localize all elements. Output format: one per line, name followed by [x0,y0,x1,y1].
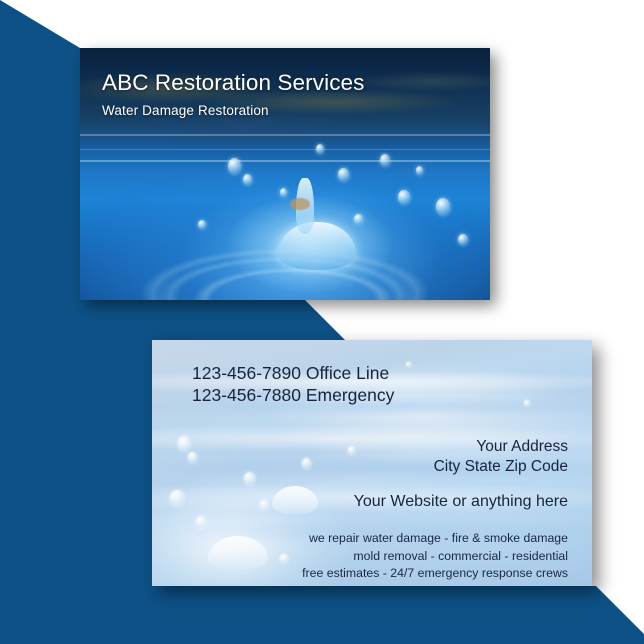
website-line: Your Website or anything here [176,493,568,511]
water-droplet-icon [354,214,363,224]
phone-numbers-group: 123-456-7890 Office Line 123-456-7880 Em… [192,362,568,407]
office-phone: 123-456-7890 Office Line [192,362,568,384]
water-droplet-icon [416,166,423,175]
water-droplet-icon [458,234,468,245]
water-droplet-icon [198,220,206,229]
address-group: Your Address City State Zip Code [176,437,568,477]
service-line: we repair water damage - fire & smoke da… [176,530,568,547]
back-card-text-block: 123-456-7890 Office Line 123-456-7880 Em… [152,340,592,586]
service-line: mold removal - commercial - residential [176,548,568,565]
water-droplet-icon [398,190,410,204]
water-droplet-icon [228,158,241,174]
front-card-text-block: ABC Restoration Services Water Damage Re… [102,70,474,118]
water-droplet-icon [436,198,450,215]
water-droplet-icon [280,188,287,197]
business-card-front[interactable]: ABC Restoration Services Water Damage Re… [80,48,490,300]
service-line: free estimates - 24/7 emergency response… [176,565,568,582]
water-droplet-icon [380,154,390,166]
emergency-phone: 123-456-7880 Emergency [192,384,568,406]
water-droplet-icon [338,168,349,181]
company-name: ABC Restoration Services [102,70,474,95]
business-card-preview-canvas: ABC Restoration Services Water Damage Re… [0,0,644,644]
water-droplet-icon [316,144,324,154]
address-line-2: City State Zip Code [176,457,568,477]
company-tagline: Water Damage Restoration [102,103,474,118]
business-card-back[interactable]: 123-456-7890 Office Line 123-456-7880 Em… [152,340,592,586]
services-list: we repair water damage - fire & smoke da… [176,530,568,582]
address-line-1: Your Address [176,437,568,457]
water-droplet-icon [243,174,252,185]
